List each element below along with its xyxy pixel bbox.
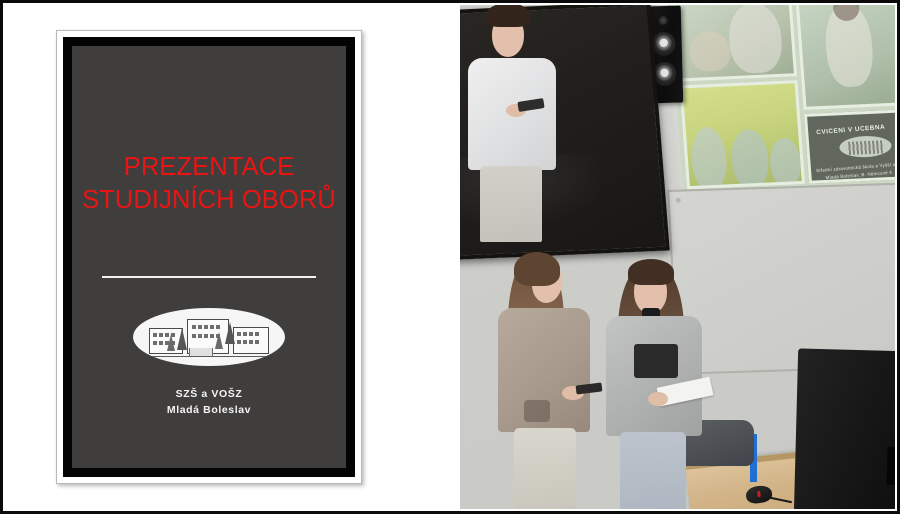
slide-title: PREZENTACE STUDIJNÍCH OBORŮ — [72, 151, 346, 217]
slide-content: PREZENTACE STUDIJNÍCH OBORŮ — [72, 46, 346, 468]
logo-building-right-wing — [233, 327, 269, 354]
slide-footer-text: SZŠ a VOŠZ Mladá Boleslav — [72, 386, 346, 419]
student-hand — [648, 392, 668, 406]
monitor-stand — [887, 447, 900, 486]
smartphone — [576, 382, 603, 394]
logo-container — [72, 308, 346, 366]
paper-background: PREZENTACE STUDIJNÍCH OBORŮ — [0, 0, 520, 514]
student-hair-front — [514, 252, 560, 286]
school-building-logo-icon — [133, 308, 285, 366]
slide-divider — [102, 276, 316, 278]
slide-card-white-inset: PREZENTACE STUDIJNÍCH OBORŮ — [60, 34, 358, 480]
computer-monitor — [794, 348, 900, 514]
student-hair-front — [486, 3, 530, 27]
slide-card: PREZENTACE STUDIJNÍCH OBORŮ — [56, 30, 362, 484]
student-trousers — [480, 166, 542, 242]
projected-photo-top-left — [673, 0, 797, 82]
student-trousers — [514, 428, 576, 514]
student-left — [492, 246, 604, 514]
hoodie-print — [634, 344, 678, 378]
projected-logo-icon — [839, 135, 893, 158]
logo-windows — [237, 332, 259, 336]
speaker-driver — [651, 32, 676, 57]
student-middle — [600, 254, 712, 514]
logo-windows — [237, 340, 259, 344]
logo-windows — [192, 325, 220, 329]
speaker-tweeter — [658, 16, 667, 25]
classroom-photograph: CVIČENÍ V UČEBNÁ Střední zdravotnická šk… — [460, 0, 900, 514]
projected-photo-bottom-left — [679, 80, 805, 189]
logo-tree-icon — [177, 328, 187, 350]
collage-canvas: PREZENTACE STUDIJNÍCH OBORŮ — [0, 0, 900, 514]
student-hoodie — [498, 308, 590, 432]
logo-tree-icon — [167, 334, 175, 351]
mouse-led — [757, 491, 761, 497]
student-jeans — [620, 432, 686, 514]
student-hair-front — [628, 259, 674, 285]
slide-card-black-frame: PREZENTACE STUDIJNÍCH OBORŮ — [63, 37, 355, 477]
projected-photo-top-right — [795, 0, 900, 110]
logo-tree-icon — [215, 332, 223, 349]
logo-tree-icon — [225, 322, 235, 344]
projected-title-slide: CVIČENÍ V UČEBNÁ Střední zdravotnická šk… — [804, 108, 900, 183]
projected-slide-title: CVIČENÍ V UČEBNÁ — [816, 120, 900, 136]
hoodie-print — [524, 400, 550, 422]
logo-groundline — [143, 356, 275, 357]
projected-slide: CVIČENÍ V UČEBNÁ Střední zdravotnická šk… — [669, 0, 900, 193]
